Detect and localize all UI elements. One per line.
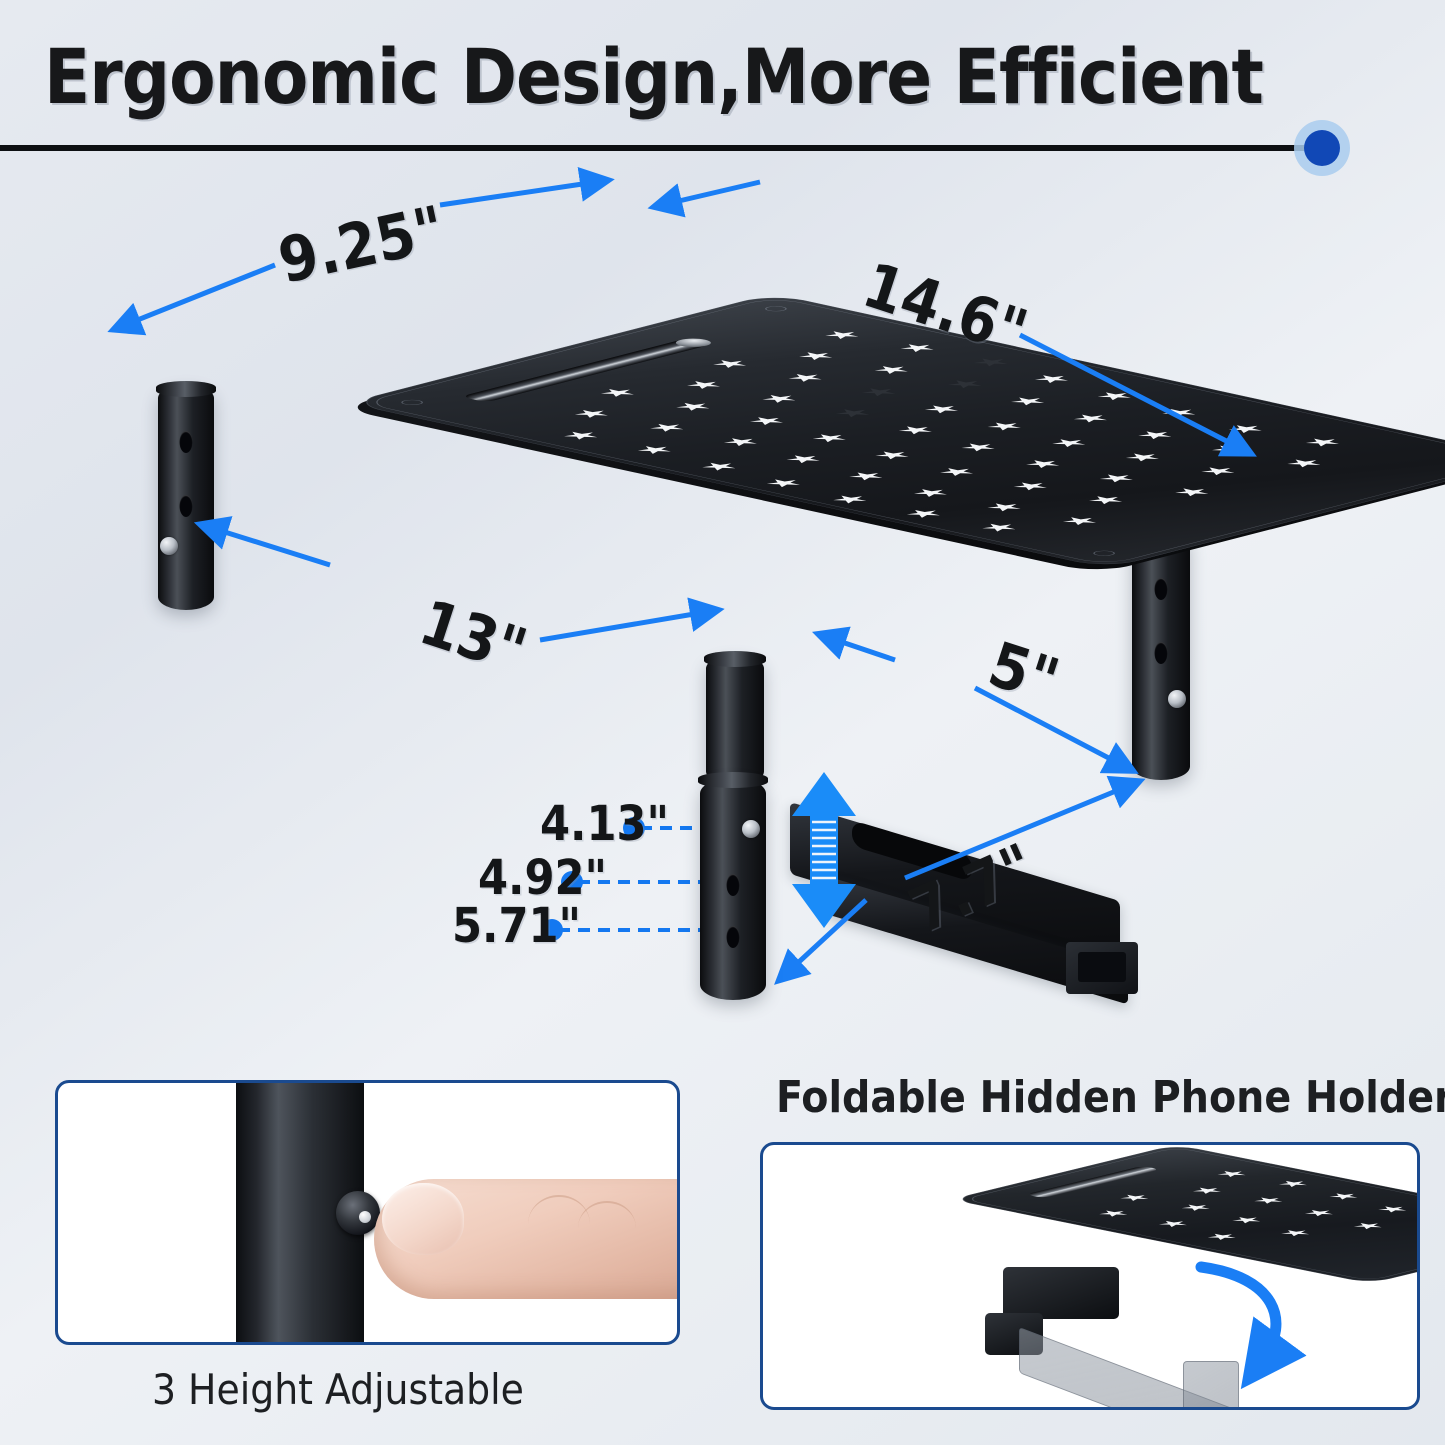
page-title: Ergonomic Design,More Efficient xyxy=(44,32,1263,121)
panel-height-adjust: 3 Height Adjustable xyxy=(0,1060,720,1445)
phone-holder-card xyxy=(760,1142,1420,1410)
panel-caption-height-adjust: 3 Height Adjustable xyxy=(152,1365,524,1414)
height-label-5-71: 5.71" xyxy=(452,898,581,954)
title-divider-rule xyxy=(0,145,1322,151)
hero-product-illustration: 9.25" 14.6" 13" 5" 7.7" 4.13" 4.92" 5.71… xyxy=(0,160,1445,1050)
thumbnail xyxy=(382,1183,464,1255)
adjust-knob-closeup xyxy=(336,1191,380,1235)
leg-hole xyxy=(727,874,740,896)
leg-hole xyxy=(727,926,740,948)
vertical-double-arrow-striped-icon xyxy=(792,772,856,928)
rotation-arrow-svg xyxy=(763,1145,1420,1410)
panel-caption-phone-holder: Foldable Hidden Phone Holder xyxy=(776,1072,1445,1123)
rotation-arrow-icon xyxy=(1201,1267,1276,1359)
arrow-5 xyxy=(830,638,1122,765)
height-adjust-card xyxy=(55,1080,680,1345)
panel-phone-holder: Foldable Hidden Phone Holder xyxy=(720,1060,1445,1445)
infographic-canvas: Ergonomic Design,More Efficient xyxy=(0,0,1445,1445)
leg-front-lower xyxy=(700,778,766,1000)
height-label-4-13: 4.13" xyxy=(540,796,669,852)
leg-collar xyxy=(698,772,768,788)
thumb-crease xyxy=(578,1201,636,1255)
leg-adjust-knob xyxy=(742,820,760,838)
